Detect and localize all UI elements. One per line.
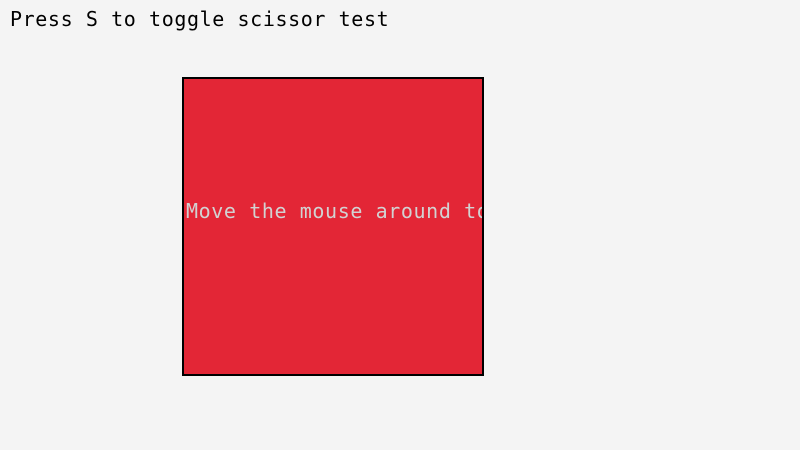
demo-canvas: Press S to toggle scissor test Move the … — [0, 0, 800, 450]
scissor-rectangle[interactable]: Move the mouse around to reveal the rest… — [182, 77, 484, 376]
clipped-message-text: Move the mouse around to reveal the rest… — [186, 198, 484, 224]
clipped-text-region: Move the mouse around to reveal the rest… — [186, 198, 484, 224]
scissor-toggle-hint: Press S to toggle scissor test — [10, 7, 389, 31]
